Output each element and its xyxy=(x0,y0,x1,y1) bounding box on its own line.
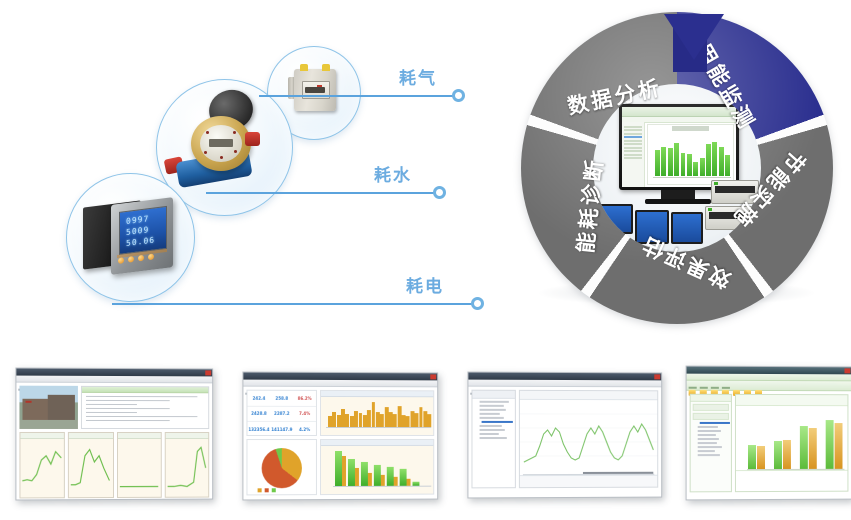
kpi-r2-v2: 2287.2 xyxy=(270,411,293,416)
power-meter-value-3: 50.06 xyxy=(126,235,155,248)
device-tree[interactable] xyxy=(471,390,515,489)
connector-line-water xyxy=(206,192,437,194)
kpi-r3-v1: 132356.4 xyxy=(247,427,270,432)
kpi-r1-v1: 242.4 xyxy=(247,396,270,401)
dashboard-histogram xyxy=(320,390,434,436)
center-bar-chart xyxy=(655,134,730,176)
power-meter-value-2: 5009 xyxy=(126,225,149,237)
connector-dot-water xyxy=(433,186,446,199)
category-tree[interactable] xyxy=(690,394,732,493)
connector-dot-gas xyxy=(452,89,465,102)
trend-chart-1 xyxy=(19,432,65,498)
connector-dot-electricity xyxy=(471,297,484,310)
energy-management-cycle: 用能监测 节能实施 效果评估 能耗诊断 数据分析 xyxy=(521,12,833,324)
page-root: 0997 5009 50.06 耗气 耗水 耗电 xyxy=(0,0,851,520)
kpi-r3-v2: 141147.9 xyxy=(270,427,293,432)
toolbar[interactable] xyxy=(687,381,851,392)
trend-chart-4 xyxy=(164,432,209,498)
power-meter-bubble[interactable]: 0997 5009 50.06 xyxy=(66,173,195,302)
connector-line-electricity xyxy=(112,303,475,305)
kpi-r1-v2: 258.8 xyxy=(270,396,293,401)
kpi-table: 242.4 258.8 86.2% 2428.8 2287.2 7.4% 132… xyxy=(246,390,317,436)
screenshot-load-curve[interactable] xyxy=(467,372,662,499)
kpi-r2-pct: 7.4% xyxy=(293,411,316,416)
cycle-arrow-icon xyxy=(664,14,724,60)
label-electricity: 耗电 xyxy=(406,272,444,297)
kpi-r3-pct: 4.2% xyxy=(293,427,316,432)
monitoring-devices-scene xyxy=(593,84,761,252)
kpi-r1-pct: 86.2% xyxy=(293,396,316,401)
screenshot-energy-dashboard[interactable]: 242.4 258.8 86.2% 2428.8 2287.2 7.4% 132… xyxy=(242,372,438,501)
info-text-panel xyxy=(81,386,209,429)
label-water: 耗水 xyxy=(374,161,412,186)
dashboard-pie-chart xyxy=(246,439,317,495)
power-meter-value-1: 0997 xyxy=(126,214,149,226)
label-gas: 耗气 xyxy=(399,64,437,89)
comparison-chart xyxy=(735,394,848,492)
connector-line-gas xyxy=(259,95,456,97)
building-photo xyxy=(19,386,77,429)
screenshot-building-overview[interactable] xyxy=(15,368,213,501)
table-row: 132356.4 141147.9 4.2% xyxy=(247,422,316,437)
screenshot-contrast-analysis[interactable] xyxy=(686,366,851,501)
table-row: 2428.8 2287.2 7.4% xyxy=(247,406,316,422)
dashboard-ranking-bars xyxy=(320,439,434,495)
load-curve-chart xyxy=(519,390,658,488)
trend-chart-2 xyxy=(68,432,113,498)
trend-chart-3 xyxy=(116,432,161,498)
table-row: 242.4 258.8 86.2% xyxy=(247,391,316,407)
kpi-r2-v1: 2428.8 xyxy=(247,411,270,416)
